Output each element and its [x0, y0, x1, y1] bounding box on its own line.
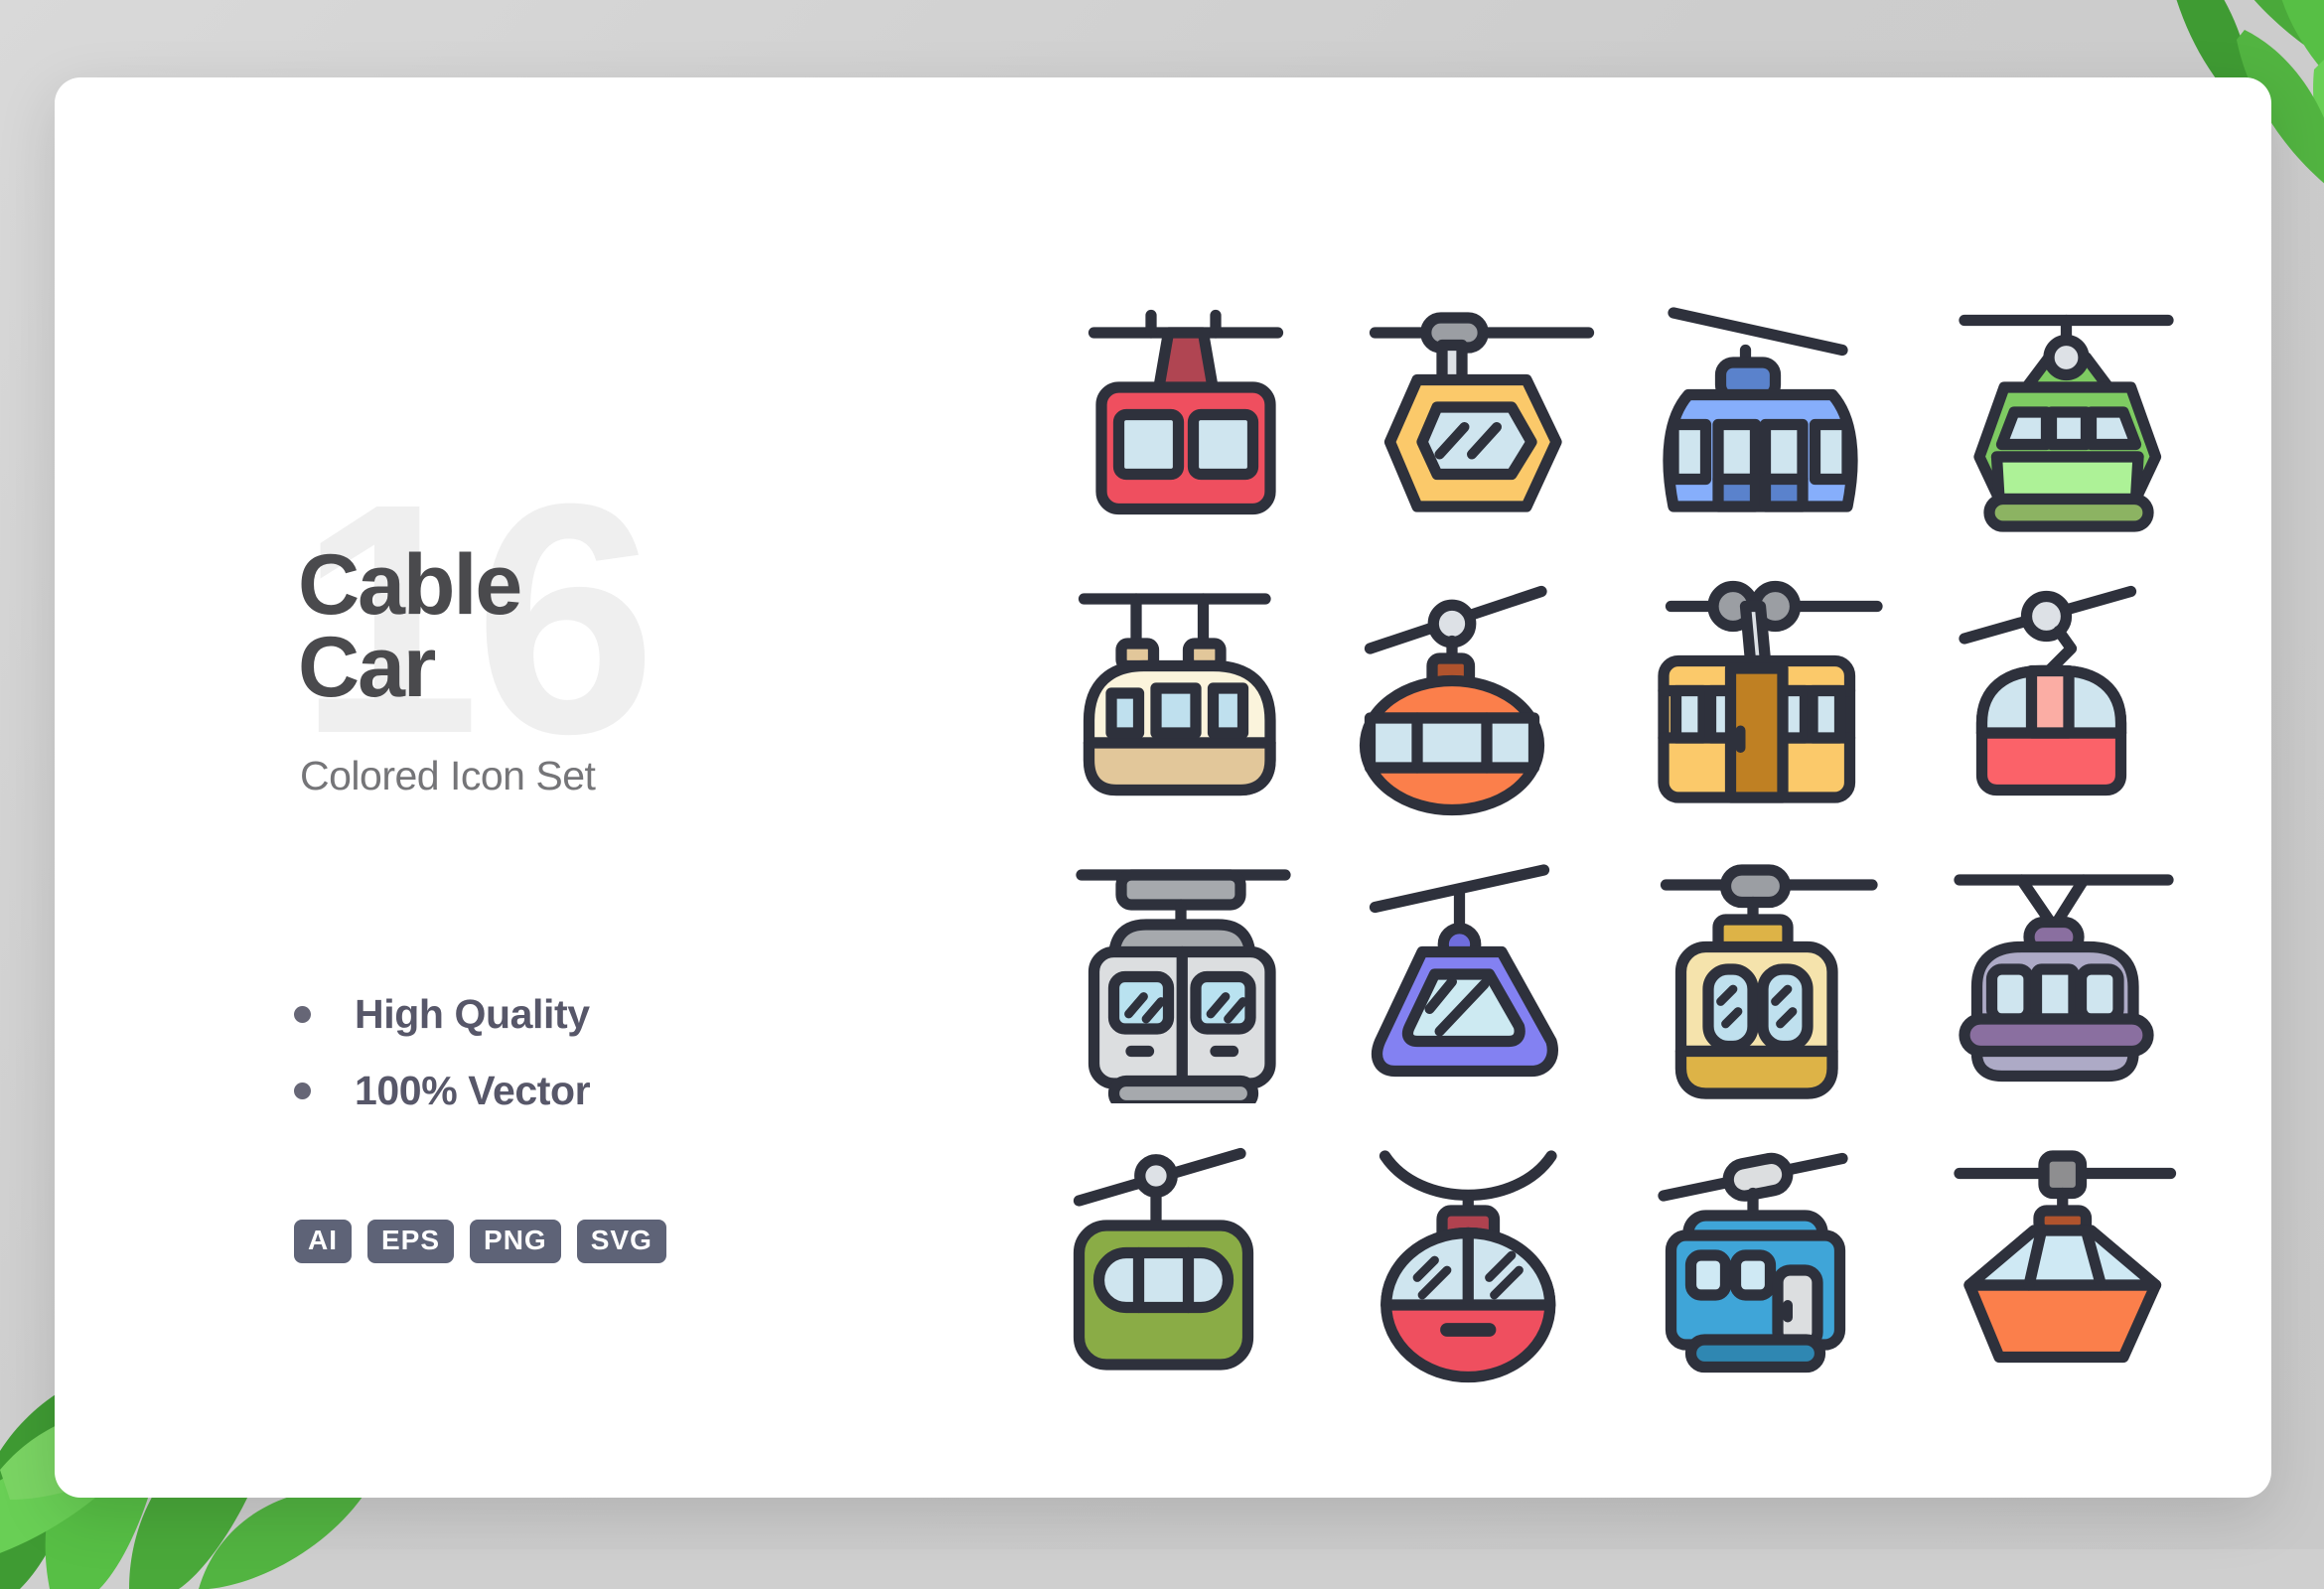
format-badge-group: AI EPS PNG SVG: [294, 1220, 666, 1263]
status-badge: SVG: [577, 1220, 666, 1263]
red-dome-gondola-pink-stripe-icon: [1940, 574, 2208, 822]
icon-cell[interactable]: [1630, 838, 1926, 1119]
pale-yellow-cabin-two-windows-icon: [1644, 855, 1912, 1103]
amber-tram-with-brown-door-icon: [1644, 574, 1912, 822]
orange-hexagon-gondola-glass-top-icon: [1940, 1136, 2208, 1384]
yellow-hexagon-gondola-icon: [1348, 293, 1616, 541]
red-cable-car-with-two-windows-icon: [1052, 293, 1320, 541]
icon-cell[interactable]: [1334, 838, 1630, 1119]
title-line-1: Cable: [298, 544, 520, 627]
status-badge: EPS: [367, 1220, 454, 1263]
icon-cell[interactable]: [1926, 557, 2222, 838]
title-line-2: Car: [298, 627, 520, 709]
orange-oval-gondola-icon: [1348, 574, 1616, 822]
icon-cell[interactable]: [1038, 557, 1334, 838]
icon-cell[interactable]: [1334, 1119, 1630, 1400]
icon-cell[interactable]: [1334, 557, 1630, 838]
feature-label: 100% Vector: [355, 1068, 590, 1114]
lavender-cabin-with-belt-icon: [1940, 855, 2208, 1103]
list-item: 100% Vector: [294, 1068, 590, 1114]
blue-rounded-gondola-icon: [1644, 293, 1912, 541]
icon-cell[interactable]: [1630, 557, 1926, 838]
icon-cell[interactable]: [1038, 1119, 1334, 1400]
icon-cell[interactable]: [1630, 1119, 1926, 1400]
icon-cell[interactable]: [1630, 276, 1926, 557]
feature-label: High Quality: [355, 991, 590, 1038]
icon-grid: [1038, 276, 2222, 1400]
green-gondola-three-windows-icon: [1940, 293, 2208, 541]
page-subtitle: Colored Icon Set: [300, 753, 595, 799]
status-badge: AI: [294, 1220, 352, 1263]
gray-double-door-cabin-icon: [1052, 855, 1320, 1103]
red-egg-gondola-blue-dome-icon: [1348, 1136, 1616, 1384]
icon-cell[interactable]: [1926, 838, 2222, 1119]
icon-cell[interactable]: [1926, 276, 2222, 557]
olive-green-cabin-window-band-icon: [1052, 1136, 1320, 1384]
icon-cell[interactable]: [1926, 1119, 2222, 1400]
page-title: Cable Car: [298, 544, 520, 708]
feature-list: High Quality 100% Vector: [294, 991, 590, 1144]
blue-cabin-with-side-door-icon: [1644, 1136, 1912, 1384]
cream-tram-car-two-hangers-icon: [1052, 574, 1320, 822]
main-card: 16 Cable Car Colored Icon Set High Quali…: [55, 77, 2271, 1498]
status-badge: PNG: [470, 1220, 561, 1263]
bullet-dot-icon: [294, 1006, 311, 1023]
purple-trapezoid-gondola-icon: [1348, 855, 1616, 1103]
left-info-panel: 16 Cable Car Colored Icon Set High Quali…: [238, 375, 1013, 1398]
icon-cell[interactable]: [1038, 276, 1334, 557]
bullet-dot-icon: [294, 1083, 311, 1099]
icon-cell[interactable]: [1334, 276, 1630, 557]
icon-cell[interactable]: [1038, 838, 1334, 1119]
list-item: High Quality: [294, 991, 590, 1038]
